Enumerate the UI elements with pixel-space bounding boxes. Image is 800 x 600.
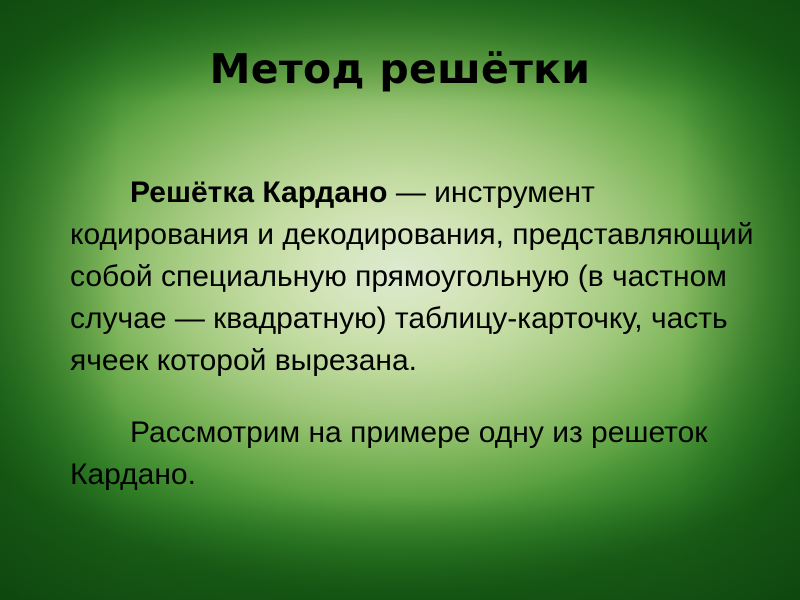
slide-content: Метод решётки Решётка Кардано — инструме… bbox=[0, 0, 800, 600]
slide-title: Метод решётки bbox=[0, 46, 800, 92]
slide-body: Решётка Кардано — инструмент кодирования… bbox=[70, 142, 760, 526]
paragraph-example: Рассмотрим на примере одну из решеток Ка… bbox=[70, 412, 760, 496]
definition-term: Решётка Кардано bbox=[130, 176, 387, 209]
example-body: Рассмотрим на примере одну из решеток Ка… bbox=[70, 416, 716, 491]
paragraph-definition: Решётка Кардано — инструмент кодирования… bbox=[70, 172, 760, 382]
slide-canvas: Метод решётки Решётка Кардано — инструме… bbox=[0, 0, 800, 600]
